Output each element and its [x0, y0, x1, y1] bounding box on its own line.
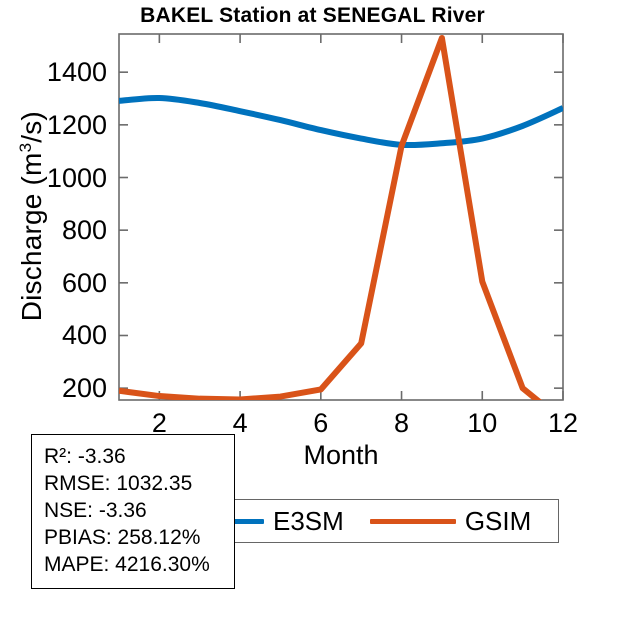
axes-frame	[119, 34, 563, 400]
legend-label-gsim: GSIM	[465, 506, 531, 537]
chart-figure: BAKEL Station at SENEGAL River 200400600…	[0, 0, 625, 625]
y-axis-label-tail: /s)	[16, 111, 47, 143]
x-tick-label: 12	[533, 410, 593, 437]
legend-label-e3sm: E3SM	[273, 506, 344, 537]
metric-line: RMSE: 1032.35	[44, 470, 234, 497]
chart-legend: E3SM GSIM	[221, 499, 559, 543]
y-axis-label-exponent: 3	[16, 143, 35, 153]
legend-entry-e3sm[interactable]: E3SM	[228, 506, 344, 537]
metric-line: NSE: -3.36	[44, 497, 234, 524]
x-tick-label: 4	[210, 410, 270, 437]
y-axis-label: Discharge (m3/s)	[16, 16, 48, 416]
metric-line: MAPE: 4216.30%	[44, 551, 234, 578]
x-tick-label: 10	[452, 410, 512, 437]
series-line-gsim	[119, 38, 563, 421]
x-tick-label: 2	[129, 410, 189, 437]
x-tick-label: 8	[372, 410, 432, 437]
metric-line: PBIAS: 258.12%	[44, 524, 234, 551]
x-tick-label: 6	[291, 410, 351, 437]
data-series-layer	[119, 38, 563, 421]
metrics-box: R²: -3.36RMSE: 1032.35NSE: -3.36PBIAS: 2…	[31, 434, 235, 589]
legend-swatch-gsim	[370, 519, 456, 524]
y-axis-label-base: Discharge (m	[16, 152, 47, 321]
metric-line: R²: -3.36	[44, 443, 234, 470]
axis-ticks	[119, 34, 563, 400]
legend-entry-gsim[interactable]: GSIM	[370, 506, 531, 537]
series-line-e3sm	[119, 98, 563, 145]
